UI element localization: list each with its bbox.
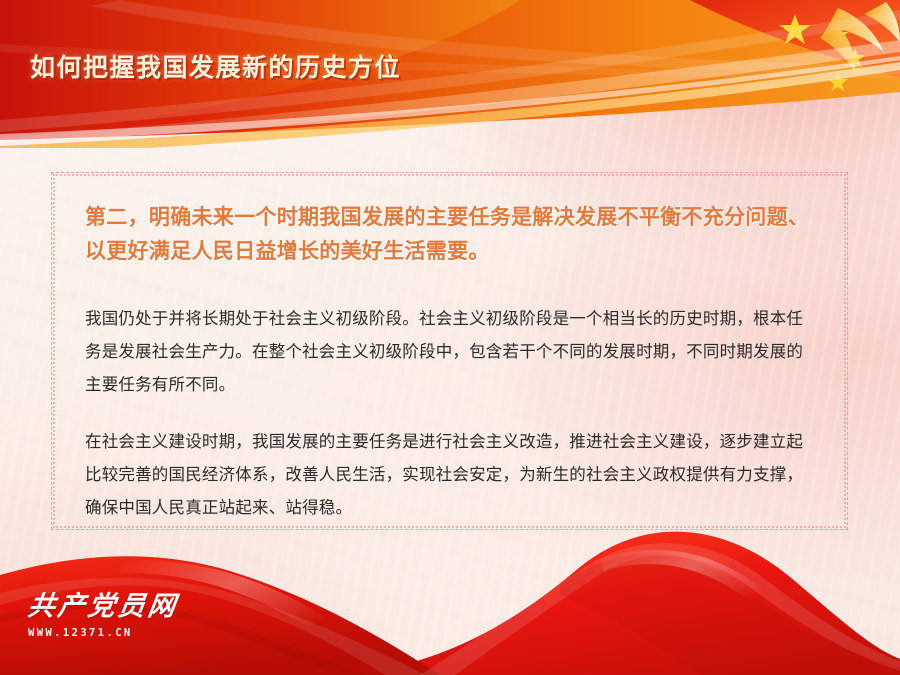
body-paragraph-2: 在社会主义建设时期，我国发展的主要任务是进行社会主义改造，推进社会主义建设，逐步…: [85, 425, 815, 524]
body-paragraph-1: 我国仍处于并将长期处于社会主义初级阶段。社会主义初级阶段是一个相当长的历史时期，…: [85, 302, 815, 401]
lead-heading: 第二，明确未来一个时期我国发展的主要任务是解决发展不平衡不充分问题、以更好满足人…: [85, 200, 815, 268]
content-area: 第二，明确未来一个时期我国发展的主要任务是解决发展不平衡不充分问题、以更好满足人…: [85, 200, 815, 524]
site-logo[interactable]: 共产党员网 WWW.12371.CN: [28, 593, 228, 639]
header-banner: 如何把握我国发展新的历史方位: [0, 0, 900, 148]
logo-wordmark: 共产党员网: [26, 593, 230, 620]
poster-page: 如何把握我国发展新的历史方位 第二，明确未来一个时期我国发展的主要任务是解决发展…: [0, 0, 900, 675]
logo-url: WWW.12371.CN: [28, 627, 228, 639]
footer-wave-graphic: 共产党员网 WWW.12371.CN: [0, 515, 900, 675]
page-title: 如何把握我国发展新的历史方位: [30, 48, 401, 84]
